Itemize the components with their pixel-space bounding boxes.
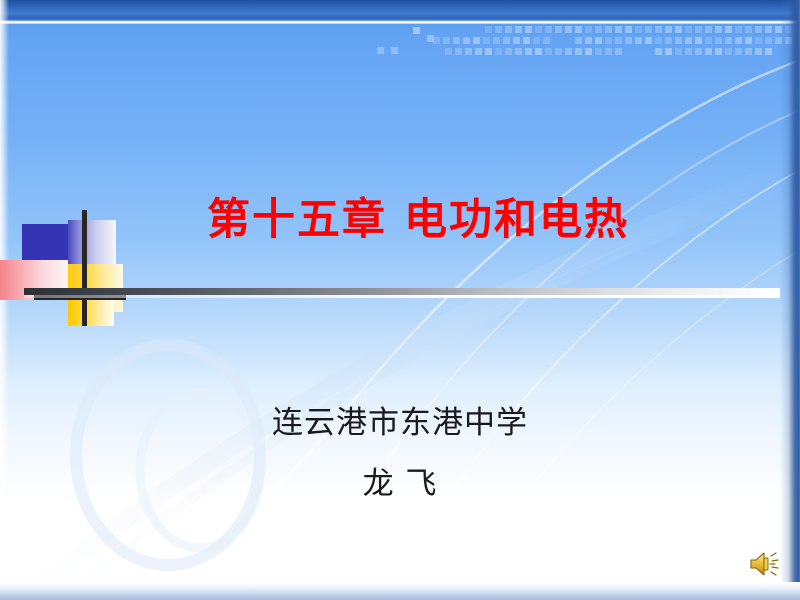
bottom-accent-band	[0, 582, 800, 600]
subtitle-author-name: 龙 飞	[0, 469, 800, 500]
slide-title: 第十五章 电功和电热	[0, 196, 800, 244]
slide-subtitle: 连云港市东港中学 龙 飞	[0, 408, 800, 500]
left-edge-highlight	[0, 0, 9, 600]
title-divider-rule	[24, 288, 780, 295]
header-dot-pattern	[405, 26, 800, 60]
title-divider-highlight	[24, 295, 780, 298]
top-accent-bar	[0, 0, 800, 22]
presentation-slide: 第十五章 电功和电热 连云港市东港中学 龙 飞	[0, 0, 800, 600]
right-edge-shadow	[780, 0, 800, 600]
sound-speaker-icon[interactable]	[748, 549, 784, 579]
top-accent-highlight	[0, 21, 800, 24]
subtitle-school-name: 连云港市东港中学	[0, 408, 800, 439]
